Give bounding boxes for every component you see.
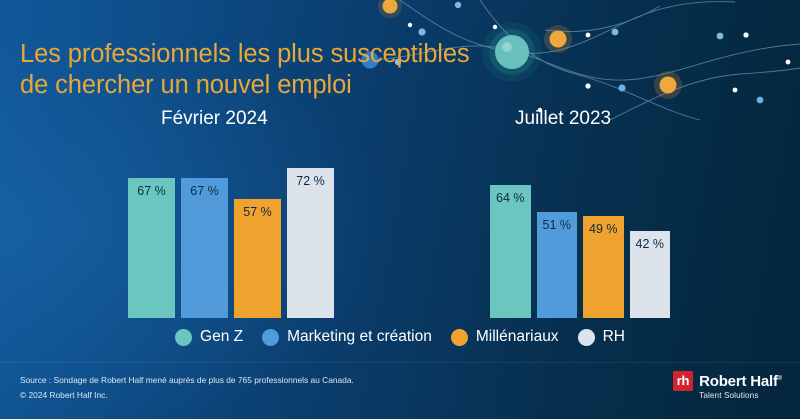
rh-monogram-icon: rh [673, 371, 693, 391]
legend-item-marketing: Marketing et création [262, 328, 432, 346]
bar-slot: 67 % [181, 178, 228, 318]
page-title: Les professionnels les plus susceptibles… [20, 39, 580, 101]
bar-slot: 51 % [537, 212, 578, 318]
circle-swatch-icon [578, 329, 595, 346]
bar-marketing: 67 % [181, 178, 228, 318]
bar-marketing: 51 % [537, 212, 578, 318]
logo-company-name: Robert Half® [699, 371, 782, 390]
legend-label: Gen Z [200, 328, 243, 346]
bar-value: 64 % [490, 191, 531, 205]
circle-swatch-icon [175, 329, 192, 346]
trademark-icon: ® [778, 376, 782, 382]
bar-gen-z: 67 % [128, 178, 175, 318]
glow-node-orange-2 [654, 71, 682, 99]
logo-wordmark: Robert Half® Talent Solutions [699, 371, 782, 401]
bar-millenariaux: 57 % [234, 199, 281, 318]
bar-slot: 49 % [583, 216, 624, 318]
chart-fevrier-2024: Février 2024 67 % 67 % 57 % [128, 108, 334, 318]
infographic-canvas: Les professionnels les plus susceptibles… [0, 0, 800, 419]
source-note: Source : Sondage de Robert Half mené aup… [20, 373, 354, 388]
bars-left: 67 % 67 % 57 % 72 % [128, 151, 334, 318]
bar-value: 72 % [287, 174, 334, 188]
legend-item-millenariaux: Millénariaux [451, 328, 559, 346]
chart-title-right: Juillet 2023 [490, 108, 695, 130]
logo-tagline: Talent Solutions [699, 390, 782, 401]
legend-item-rh: RH [578, 328, 625, 346]
legend-label: Millénariaux [476, 328, 559, 346]
bar-slot: 64 % [490, 185, 531, 318]
logo-name-text: Robert Half [699, 373, 778, 390]
glow-node-orange-3 [378, 0, 402, 18]
bar-value: 57 % [234, 205, 281, 219]
bar-slot: 42 % [630, 231, 671, 319]
chart-legend: Gen Z Marketing et création Millénariaux… [0, 328, 800, 346]
chart-juillet-2023: Juillet 2023 64 % 51 % 49 % [490, 108, 670, 318]
circle-swatch-icon [451, 329, 468, 346]
bar-slot: 67 % [128, 178, 175, 318]
bar-slot: 57 % [234, 199, 281, 318]
bar-gen-z: 64 % [490, 185, 531, 318]
bar-value: 67 % [181, 184, 228, 198]
bar-value: 67 % [128, 184, 175, 198]
footer-divider [0, 362, 800, 363]
legend-item-gen-z: Gen Z [175, 328, 243, 346]
bars-right: 64 % 51 % 49 % 42 % [490, 151, 670, 318]
footer-notes: Source : Sondage de Robert Half mené aup… [20, 373, 354, 403]
circle-swatch-icon [262, 329, 279, 346]
copyright-note: © 2024 Robert Half Inc. [20, 388, 354, 403]
bar-value: 49 % [583, 222, 624, 236]
bar-value: 51 % [537, 218, 578, 232]
legend-label: RH [603, 328, 625, 346]
bar-value: 42 % [630, 237, 671, 251]
chart-title-left: Février 2024 [128, 108, 367, 130]
bar-millenariaux: 49 % [583, 216, 624, 318]
robert-half-logo: rh Robert Half® Talent Solutions [673, 371, 782, 401]
bar-rh: 42 % [630, 231, 671, 319]
bar-rh: 72 % [287, 168, 334, 318]
legend-label: Marketing et création [287, 328, 432, 346]
charts-container: Février 2024 67 % 67 % 57 % [0, 108, 800, 318]
bar-slot: 72 % [287, 168, 334, 318]
